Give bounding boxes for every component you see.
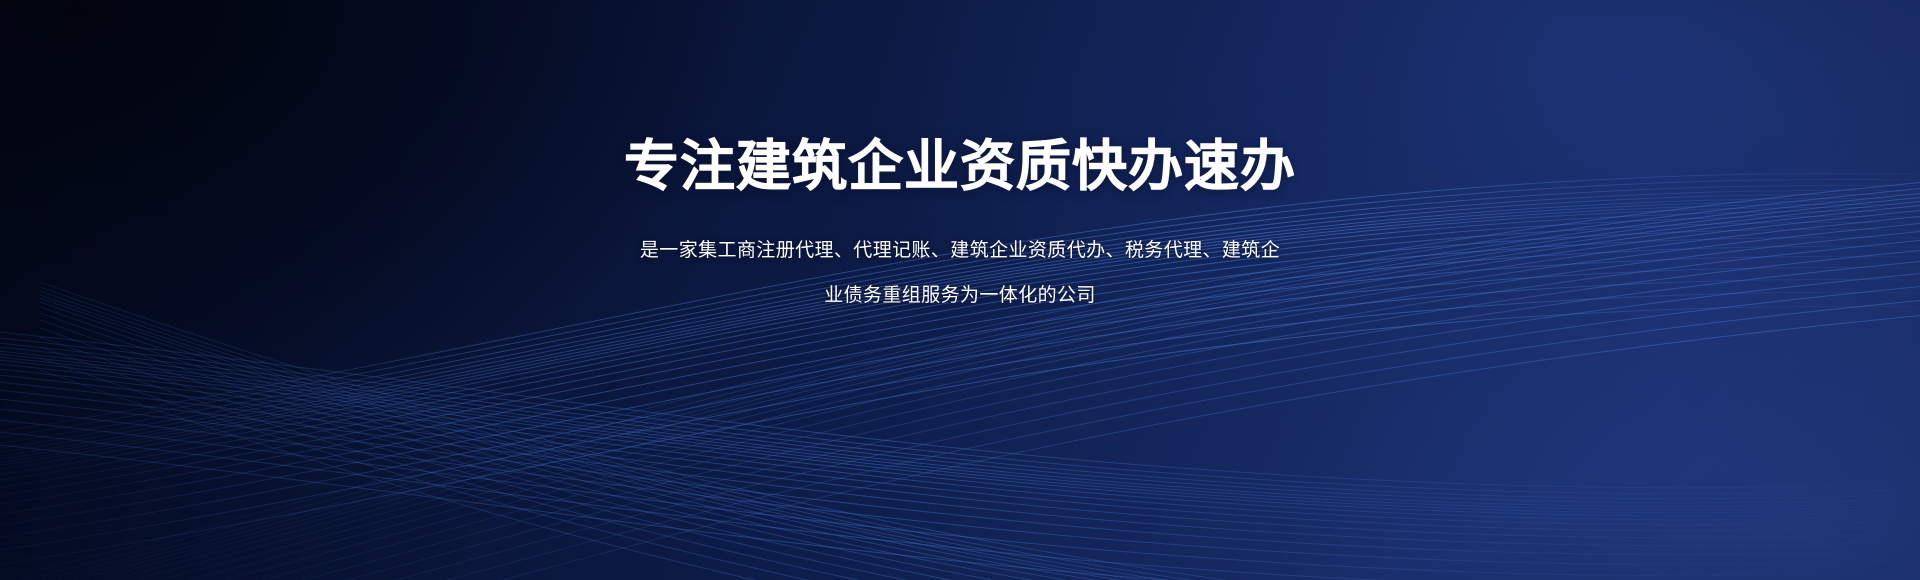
hero-banner: 专注建筑企业资质快办速办 是一家集工商注册代理、代理记账、建筑企业资质代办、税务…	[0, 0, 1920, 580]
banner-subtitle-line-1: 是一家集工商注册代理、代理记账、建筑企业资质代办、税务代理、建筑企	[510, 229, 1410, 274]
banner-subtitle-line-2: 业债务重组服务为一体化的公司	[510, 274, 1410, 319]
banner-headline: 专注建筑企业资质快办速办	[624, 0, 1296, 195]
banner-content: 专注建筑企业资质快办速办 是一家集工商注册代理、代理记账、建筑企业资质代办、税务…	[0, 0, 1920, 580]
banner-subtitle: 是一家集工商注册代理、代理记账、建筑企业资质代办、税务代理、建筑企 业债务重组服…	[510, 195, 1410, 318]
